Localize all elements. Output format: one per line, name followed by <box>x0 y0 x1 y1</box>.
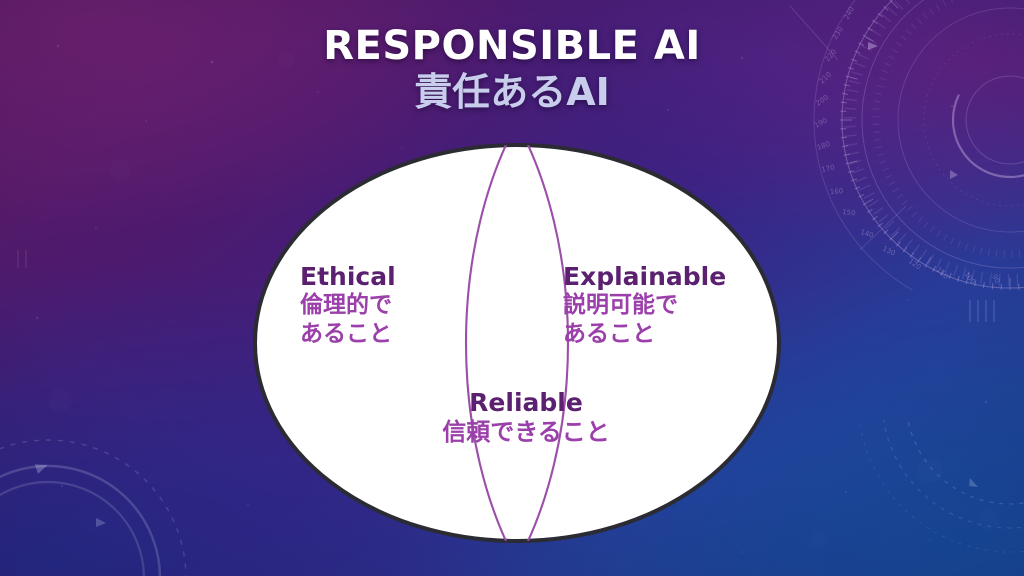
venn-label-reliable-ja-1: 信頼できること <box>417 417 635 448</box>
slide-canvas: 240 230 220 210 200 190 180 170 160 150 … <box>0 0 1024 576</box>
venn-label-ethical-ja-1: 倫理的で <box>300 291 396 320</box>
venn-label-explainable-ja-1: 説明可能で <box>563 291 726 320</box>
title-block: RESPONSIBLE AI 責任あるAI <box>0 24 1024 114</box>
venn-label-ethical-en: Ethical <box>300 262 396 291</box>
venn-label-reliable-en: Reliable <box>417 388 635 417</box>
venn-label-ethical: Ethical 倫理的で あること <box>300 262 396 350</box>
page-title-ja: 責任あるAI <box>0 71 1024 115</box>
venn-label-explainable: Explainable 説明可能で あること <box>563 262 726 350</box>
venn-label-ethical-ja-2: あること <box>300 320 396 349</box>
venn-label-explainable-ja-2: あること <box>563 320 726 349</box>
venn-label-explainable-en: Explainable <box>563 262 726 291</box>
venn-label-reliable: Reliable 信頼できること <box>417 388 635 448</box>
page-title-en: RESPONSIBLE AI <box>0 24 1024 69</box>
